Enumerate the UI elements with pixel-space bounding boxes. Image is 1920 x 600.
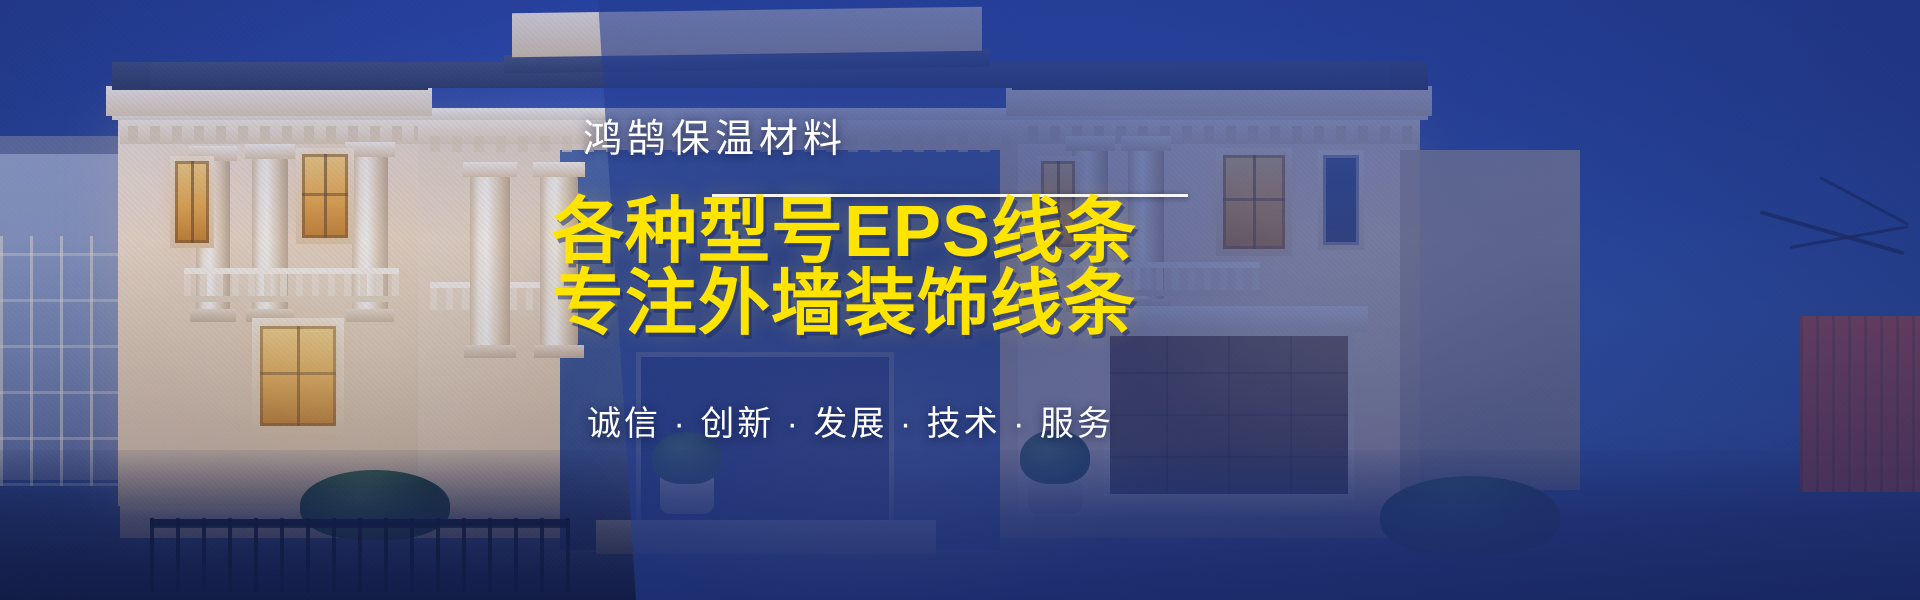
brand-name: 鸿鹄保温材料 [583,108,847,164]
hero-banner: 鸿鹄保温材料 各种型号EPS线条 专注外墙装饰线条 诚信 · 创新 · 发展 ·… [0,0,1920,600]
banner-text-content: 鸿鹄保温材料 各种型号EPS线条 专注外墙装饰线条 诚信 · 创新 · 发展 ·… [0,0,1920,600]
headline-line-2: 专注外墙装饰线条 [552,268,1136,340]
headline-line-1: 各种型号EPS线条 [552,196,1137,268]
tagline: 诚信 · 创新 · 发展 · 技术 · 服务 [587,396,1114,445]
